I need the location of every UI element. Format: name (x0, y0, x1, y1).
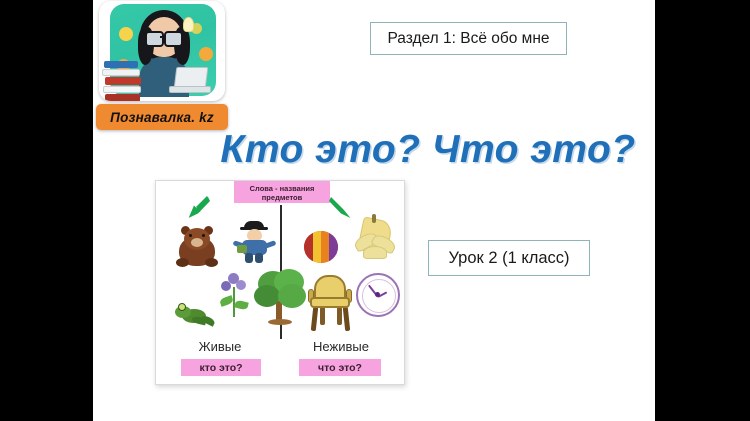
frog-icon (174, 301, 218, 331)
chair-icon (308, 275, 356, 333)
banana-icon (352, 213, 396, 261)
screenshot-stage: Познавалка. kz Раздел 1: Всё обо мне Кто… (0, 0, 750, 421)
brand-logo: Познавалка. kz (96, 0, 228, 134)
question-box-nonliving: что это? (299, 359, 381, 376)
lightbulb-icon (183, 17, 194, 32)
presentation-slide: Познавалка. kz Раздел 1: Всё обо мне Кто… (93, 0, 655, 421)
laptop-icon (169, 67, 209, 93)
glasses-icon (145, 31, 183, 43)
brand-name: Познавалка. kz (110, 110, 214, 125)
illustration-header-line1: Слова - названия (250, 184, 315, 193)
illustration-header-line2: предметов (262, 193, 302, 202)
question-box-living: кто это? (181, 359, 261, 376)
sticker-yellow-icon (119, 27, 133, 41)
lesson-label-text: Урок 2 (1 класс) (448, 249, 569, 268)
page-title: Кто это? Что это? (213, 126, 643, 174)
books-stack-icon (102, 61, 146, 101)
tree-icon (252, 269, 308, 327)
arrow-down-left-icon (183, 193, 213, 223)
illustration-header: Слова - названия предметов (234, 180, 330, 203)
ball-icon (304, 231, 338, 263)
boy-icon (234, 221, 276, 263)
category-label-living: Живые (170, 339, 270, 354)
lesson-label-box: Урок 2 (1 класс) (428, 240, 590, 276)
section-label-box: Раздел 1: Всё обо мне (370, 22, 567, 55)
sticker-orange-2-icon (199, 47, 213, 61)
category-label-nonliving: Неживые (288, 339, 394, 354)
brand-banner: Познавалка. kz (96, 104, 228, 130)
flower-icon (218, 273, 252, 319)
section-label-text: Раздел 1: Всё обо мне (387, 30, 549, 48)
illustration-card: Слова - названия предметов (155, 180, 405, 385)
teacher-avatar-icon (99, 1, 225, 101)
clock-icon (356, 273, 400, 317)
bear-icon (173, 228, 221, 268)
